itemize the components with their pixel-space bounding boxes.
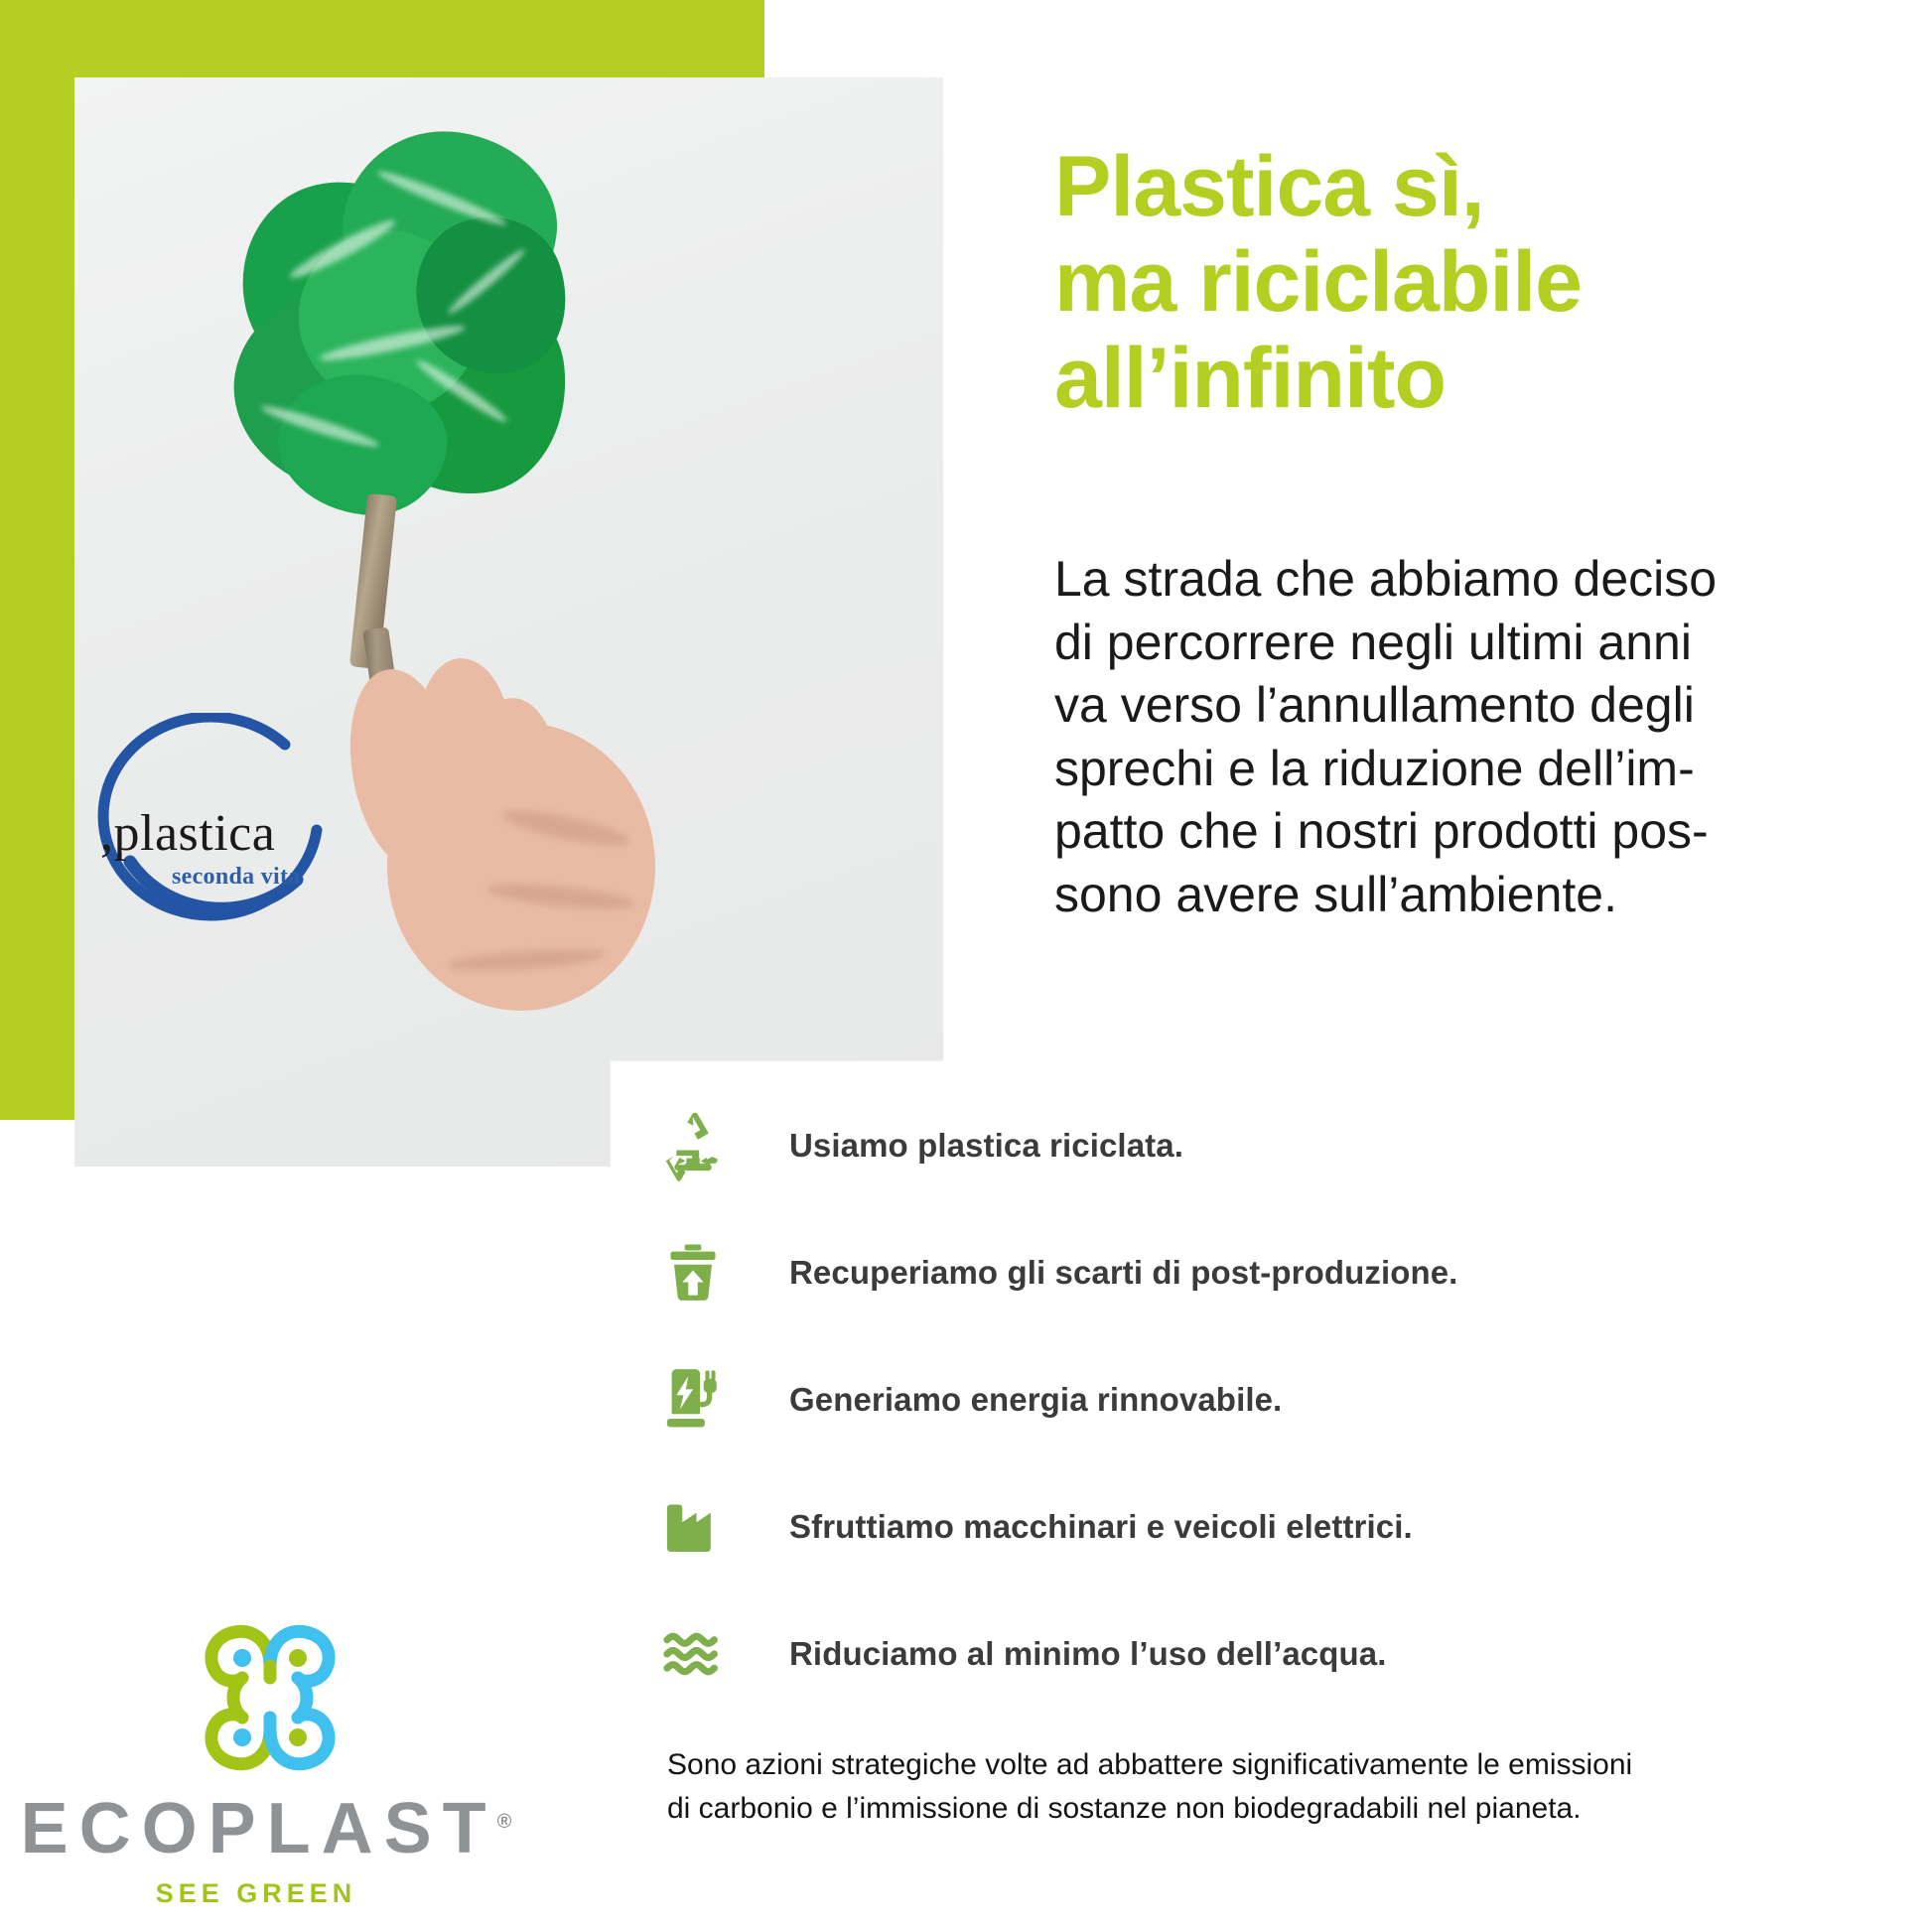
badge-word: ,plastica — [100, 804, 275, 863]
plastic-tree-foliage — [223, 122, 581, 519]
page-title: Plastica sì, ma riciclabile all’infinito — [1054, 139, 1849, 426]
plastica-seconda-vita-badge: ,plastica seconda vita — [86, 713, 345, 946]
recycle-icon — [655, 1108, 731, 1183]
intro-paragraph: La strada che abbiamo deciso di percorre… — [1054, 548, 1849, 926]
ecoplast-wordmark: ECOPLAST® — [8, 1793, 524, 1864]
water-waves-icon — [655, 1616, 731, 1692]
list-item-label: Usiamo plastica riciclata. — [789, 1127, 1183, 1165]
headline-line-2: ma riciclabile — [1054, 234, 1849, 330]
list-item: Recuperiamo gli scarti di post-produzion… — [655, 1209, 1847, 1336]
closing-line-1: Sono azioni strategiche volte ad abbatte… — [667, 1743, 1888, 1787]
intro-line-1: La strada che abbiamo deciso — [1054, 548, 1849, 612]
list-item-label: Sfruttiamo macchinari e veicoli elettric… — [789, 1508, 1413, 1546]
headline-line-3: all’infinito — [1054, 331, 1849, 426]
trash-recover-icon — [655, 1235, 731, 1311]
closing-paragraph: Sono azioni strategiche volte ad abbatte… — [667, 1743, 1888, 1830]
closing-line-2: di carbonio e l’immissione di sostanze n… — [667, 1787, 1888, 1831]
list-item-label: Riduciamo al minimo l’uso dell’acqua. — [789, 1635, 1387, 1673]
badge-subtitle: seconda vita — [172, 864, 301, 891]
ecoplast-butterfly-mark-icon — [185, 1618, 355, 1777]
actions-list: Usiamo plastica riciclata. Recuperiamo g… — [655, 1082, 1847, 1718]
intro-line-4: sprechi e la riduzione dell’im- — [1054, 738, 1849, 801]
intro-line-6: sono avere sull’ambiente. — [1054, 864, 1849, 927]
hero-photo: ,plastica seconda vita — [74, 77, 943, 1167]
ev-charger-icon — [655, 1362, 731, 1438]
registered-trademark-symbol: ® — [497, 1811, 512, 1833]
list-item: Sfruttiamo macchinari e veicoli elettric… — [655, 1463, 1847, 1590]
green-accent-rail-left — [0, 77, 74, 1120]
headline-line-1: Plastica sì, — [1054, 139, 1849, 234]
list-item-label: Recuperiamo gli scarti di post-produzion… — [789, 1254, 1457, 1292]
poster-canvas: ,plastica seconda vita Plastica sì, ma r… — [0, 0, 1932, 1932]
list-item: Generiamo energia rinnovabile. — [655, 1336, 1847, 1463]
green-accent-block-top — [0, 0, 764, 77]
list-item-label: Generiamo energia rinnovabile. — [789, 1381, 1282, 1419]
intro-line-3: va verso l’annullamento degli — [1054, 674, 1849, 738]
intro-line-2: di percorrere negli ultimi anni — [1054, 612, 1849, 675]
list-item: Usiamo plastica riciclata. — [655, 1082, 1847, 1209]
list-item: Riduciamo al minimo l’uso dell’acqua. — [655, 1590, 1847, 1718]
intro-line-5: patto che i nostri prodotti pos- — [1054, 800, 1849, 864]
hand-holding-tree — [328, 604, 685, 1021]
hero-photo-image: ,plastica seconda vita — [74, 77, 943, 1167]
ecoplast-wordmark-text: ECOPLAST — [21, 1789, 497, 1868]
ecoplast-tagline: SEE GREEN — [8, 1878, 504, 1909]
ecoplast-logo: ECOPLAST® SEE GREEN — [8, 1618, 524, 1916]
factory-icon — [655, 1489, 731, 1565]
